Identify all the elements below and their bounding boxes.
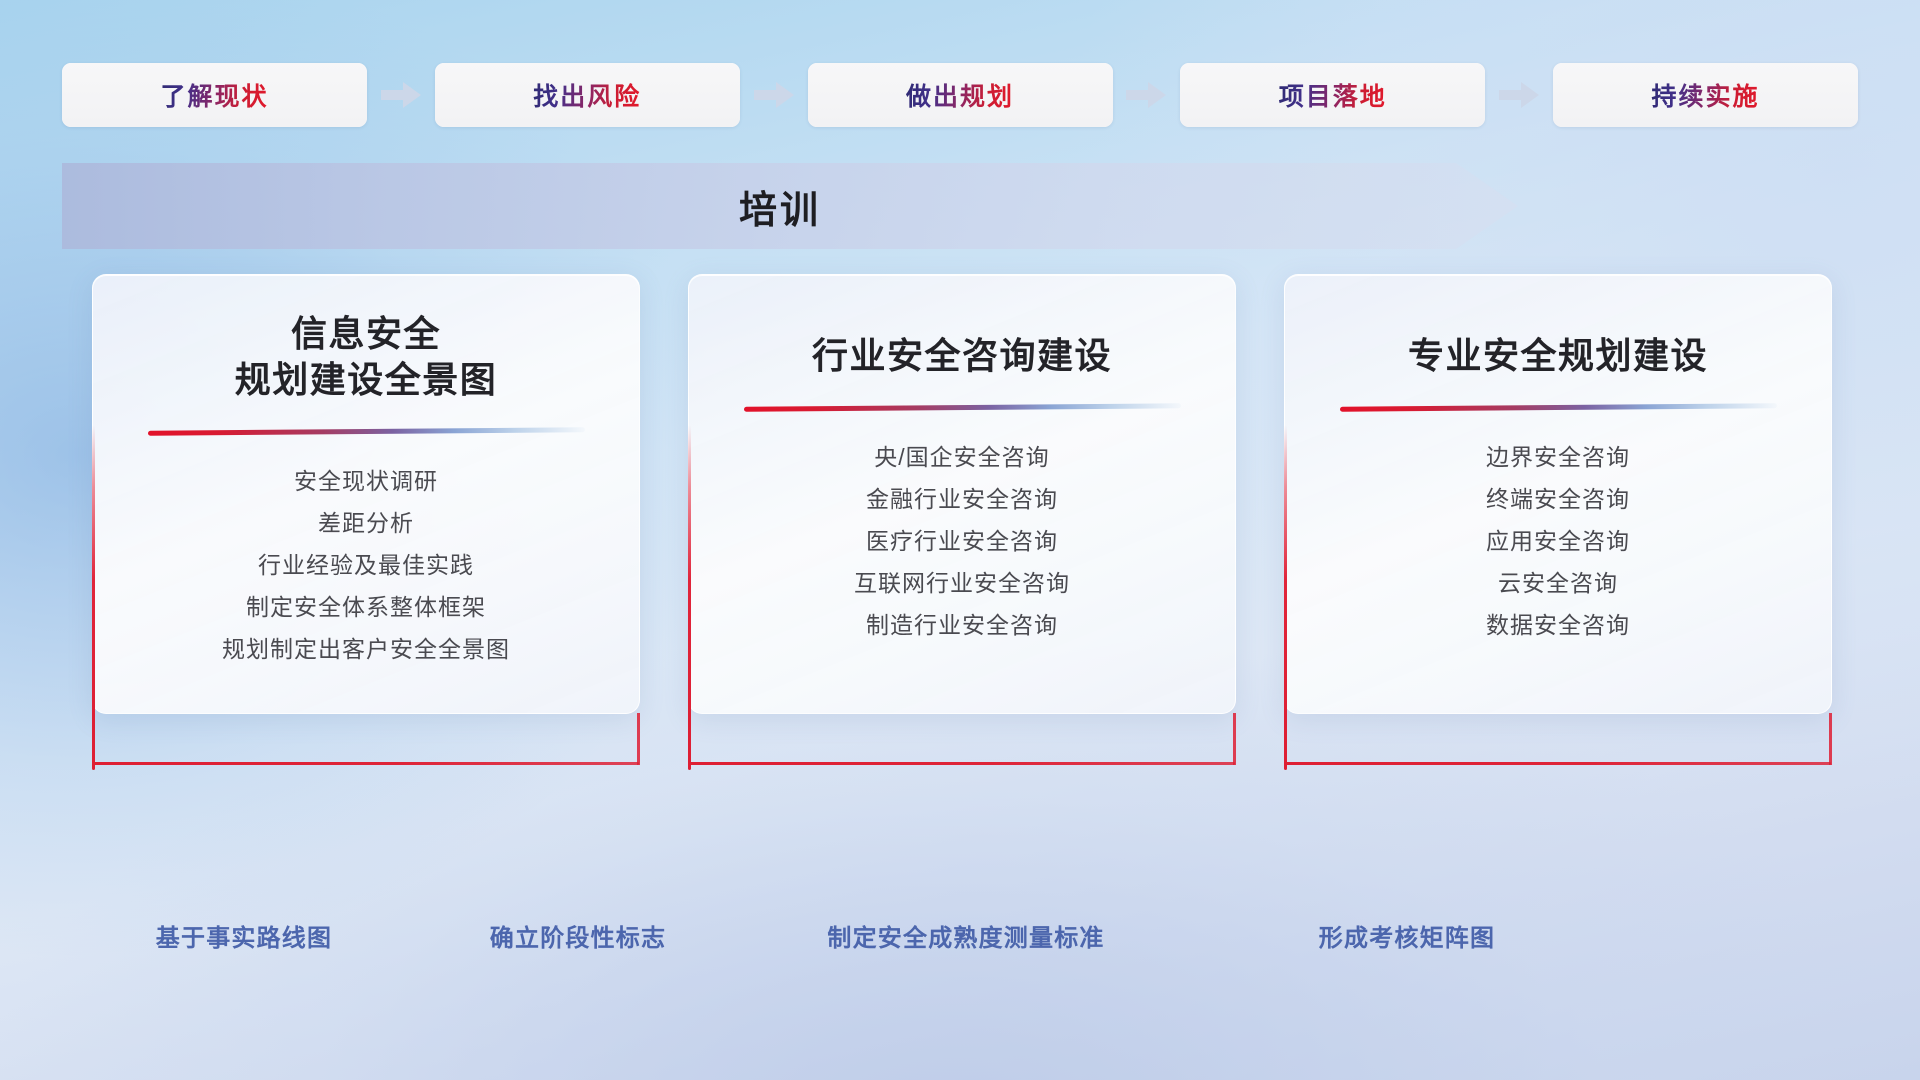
list-item: 应用安全咨询 (1285, 520, 1831, 562)
card-3-bottom-accent (1285, 762, 1831, 765)
step-box-1-inner: 了解现状 (62, 63, 367, 127)
step-label-2: 找出风险 (533, 77, 641, 113)
list-item: 行业经验及最佳实践 (93, 544, 639, 586)
card-1-divider (148, 427, 585, 435)
chevron-right-arrow-icon (752, 80, 796, 110)
card-3-title: 专业安全规划建设 (1390, 333, 1726, 379)
card-2-divider (744, 403, 1181, 411)
list-item: 制造行业安全咨询 (689, 604, 1235, 646)
card-1[interactable]: 信息安全 规划建设全景图 安全现状调研 差距分析 行业经验及最佳实践 制定安全体… (92, 274, 640, 714)
step-box-3-inner: 做出规划 (808, 63, 1113, 127)
card-3-list: 边界安全咨询 终端安全咨询 应用安全咨询 云安全咨询 数据安全咨询 (1285, 436, 1831, 646)
step-arrow-2 (740, 80, 808, 110)
card-3-accent-connector-right (1829, 713, 1832, 765)
list-item: 终端安全咨询 (1285, 478, 1831, 520)
list-item: 制定安全体系整体框架 (93, 586, 639, 628)
list-item: 金融行业安全咨询 (689, 478, 1235, 520)
step-arrow-4 (1485, 80, 1553, 110)
bottom-label-2: 确立阶段性标志 (490, 918, 666, 953)
card-1-title: 信息安全 规划建设全景图 (217, 311, 516, 403)
card-2-accent-connector-right (1233, 713, 1236, 765)
step-label-1: 了解现状 (160, 77, 268, 113)
slide-canvas: 了解现状 找出风险 做出规划 (0, 0, 1920, 1080)
card-3[interactable]: 专业安全规划建设 边界安全咨询 终端安全咨询 应用安全咨询 云安全咨询 数据安全… (1284, 274, 1832, 714)
chevron-right-arrow-icon (1497, 80, 1541, 110)
bottom-label-1: 基于事实路线图 (156, 918, 332, 953)
chevron-right-arrow-icon (379, 80, 423, 110)
list-item: 边界安全咨询 (1285, 436, 1831, 478)
cards-row: 信息安全 规划建设全景图 安全现状调研 差距分析 行业经验及最佳实践 制定安全体… (92, 274, 1832, 714)
bottom-label-3: 制定安全成熟度测量标准 (827, 918, 1104, 953)
step-arrow-1 (367, 80, 435, 110)
card-2-bottom-accent (689, 762, 1235, 765)
list-item: 安全现状调研 (93, 460, 639, 502)
chevron-right-arrow-icon (1124, 80, 1168, 110)
card-3-divider (1340, 403, 1777, 411)
step-label-4: 项目落地 (1279, 77, 1387, 113)
card-2[interactable]: 行业安全咨询建设 央/国企安全咨询 金融行业安全咨询 医疗行业安全咨询 互联网行… (688, 274, 1236, 714)
card-2-accent-connector (688, 713, 691, 765)
list-item: 云安全咨询 (1285, 562, 1831, 604)
step-box-1[interactable]: 了解现状 (62, 63, 367, 127)
list-item: 医疗行业安全咨询 (689, 520, 1235, 562)
step-box-5[interactable]: 持续实施 (1553, 63, 1858, 127)
card-3-accent-connector (1284, 713, 1287, 765)
card-1-accent-connector (92, 713, 95, 765)
list-item: 互联网行业安全咨询 (689, 562, 1235, 604)
step-arrow-3 (1113, 80, 1181, 110)
step-box-5-inner: 持续实施 (1553, 63, 1858, 127)
card-2-list: 央/国企安全咨询 金融行业安全咨询 医疗行业安全咨询 互联网行业安全咨询 制造行… (689, 436, 1235, 646)
banner-label: 培训 (62, 163, 1518, 249)
card-1-list: 安全现状调研 差距分析 行业经验及最佳实践 制定安全体系整体框架 规划制定出客户… (93, 460, 639, 670)
card-2-title: 行业安全咨询建设 (794, 333, 1130, 379)
card-1-bottom-accent (93, 762, 639, 765)
step-box-3[interactable]: 做出规划 (808, 63, 1113, 127)
process-step-row: 了解现状 找出风险 做出规划 (62, 62, 1858, 128)
step-box-4[interactable]: 项目落地 (1180, 63, 1485, 127)
step-box-2[interactable]: 找出风险 (435, 63, 740, 127)
step-label-5: 持续实施 (1651, 77, 1759, 113)
list-item: 差距分析 (93, 502, 639, 544)
list-item: 数据安全咨询 (1285, 604, 1831, 646)
card-1-accent-connector-right (637, 713, 640, 765)
step-label-3: 做出规划 (906, 77, 1014, 113)
list-item: 规划制定出客户安全全景图 (93, 628, 639, 670)
step-box-2-inner: 找出风险 (435, 63, 740, 127)
list-item: 央/国企安全咨询 (689, 436, 1235, 478)
bottom-labels-row: 基于事实路线图 确立阶段性标志 制定安全成熟度测量标准 形成考核矩阵图 (0, 918, 1920, 962)
training-banner: 培训 (62, 163, 1518, 249)
bottom-label-4: 形成考核矩阵图 (1319, 918, 1495, 953)
step-box-4-inner: 项目落地 (1180, 63, 1485, 127)
